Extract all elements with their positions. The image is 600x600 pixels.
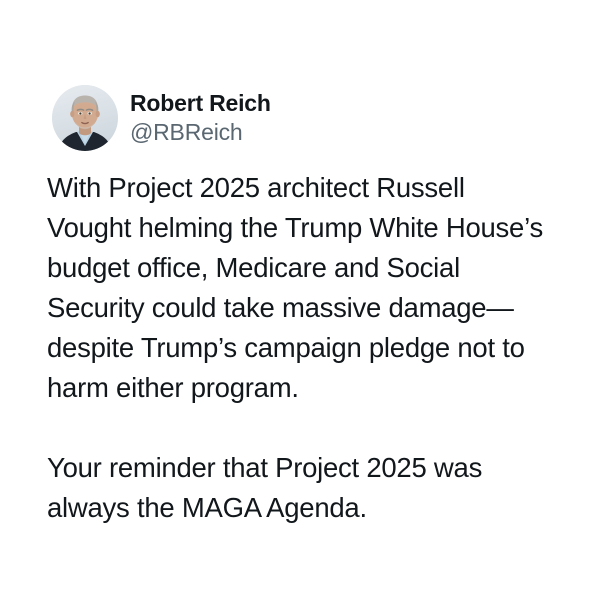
post-body: With Project 2025 architect Russell Voug… <box>47 168 547 528</box>
author-handle[interactable]: @RBReich <box>130 118 271 146</box>
post-paragraph-1: With Project 2025 architect Russell Voug… <box>47 168 547 408</box>
author-display-name[interactable]: Robert Reich <box>130 89 271 117</box>
post-paragraph-2: Your reminder that Project 2025 was alwa… <box>47 448 547 528</box>
paragraph-spacer <box>47 408 547 448</box>
author-identity: Robert Reich @RBReich <box>130 89 271 148</box>
social-post-card: Robert Reich @RBReich With Project 2025 … <box>0 0 600 600</box>
profile-photo-image <box>52 85 118 151</box>
post-header: Robert Reich @RBReich <box>52 85 271 151</box>
avatar[interactable] <box>52 85 118 151</box>
